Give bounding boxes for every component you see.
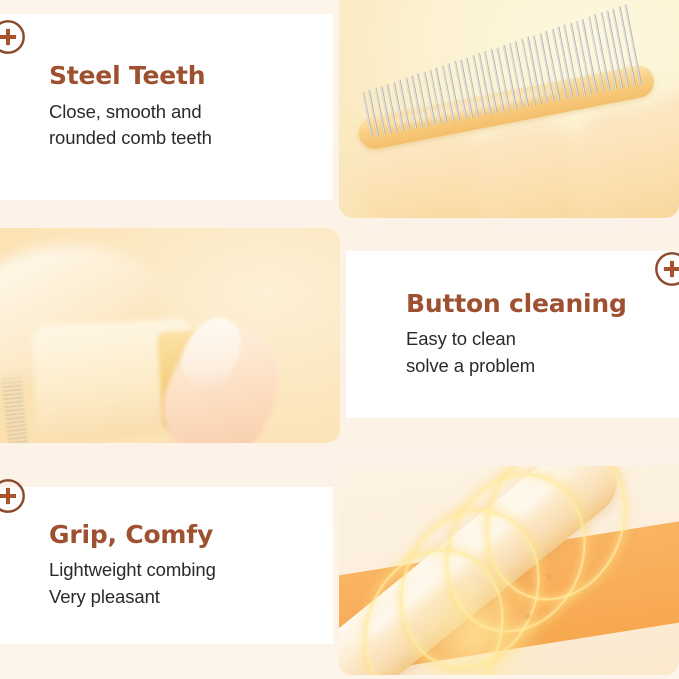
- feature-headline-button-cleaning: Button cleaning: [406, 290, 665, 318]
- feature-headline-steel-teeth: Steel Teeth: [49, 62, 319, 90]
- feature-image-button-cleaning: [0, 228, 340, 443]
- feature-body-line-2-steel-teeth: rounded comb teeth: [49, 125, 319, 151]
- feature-image-steel-teeth: [339, 0, 679, 218]
- feature-infographic: Steel Teeth Close, smooth and rounded co…: [0, 0, 679, 679]
- plus-circle-icon[interactable]: [0, 477, 27, 515]
- feature-card-grip-comfy: Grip, Comfy Lightweight combing Very ple…: [0, 487, 333, 644]
- feature-body-line-1-steel-teeth: Close, smooth and: [49, 99, 319, 125]
- feature-body-line-1-button-cleaning: Easy to clean: [406, 326, 665, 352]
- feature-card-steel-teeth: Steel Teeth Close, smooth and rounded co…: [0, 14, 333, 200]
- feature-image-grip-comfy: [339, 466, 679, 675]
- plus-circle-icon[interactable]: [0, 18, 27, 56]
- feature-body-line-1-grip-comfy: Lightweight combing: [49, 557, 319, 583]
- feature-body-line-2-grip-comfy: Very pleasant: [49, 584, 319, 610]
- feature-headline-grip-comfy: Grip, Comfy: [49, 521, 319, 549]
- feature-body-line-2-button-cleaning: solve a problem: [406, 353, 665, 379]
- feature-card-button-cleaning: Button cleaning Easy to clean solve a pr…: [346, 251, 679, 418]
- plus-circle-icon[interactable]: [653, 250, 679, 288]
